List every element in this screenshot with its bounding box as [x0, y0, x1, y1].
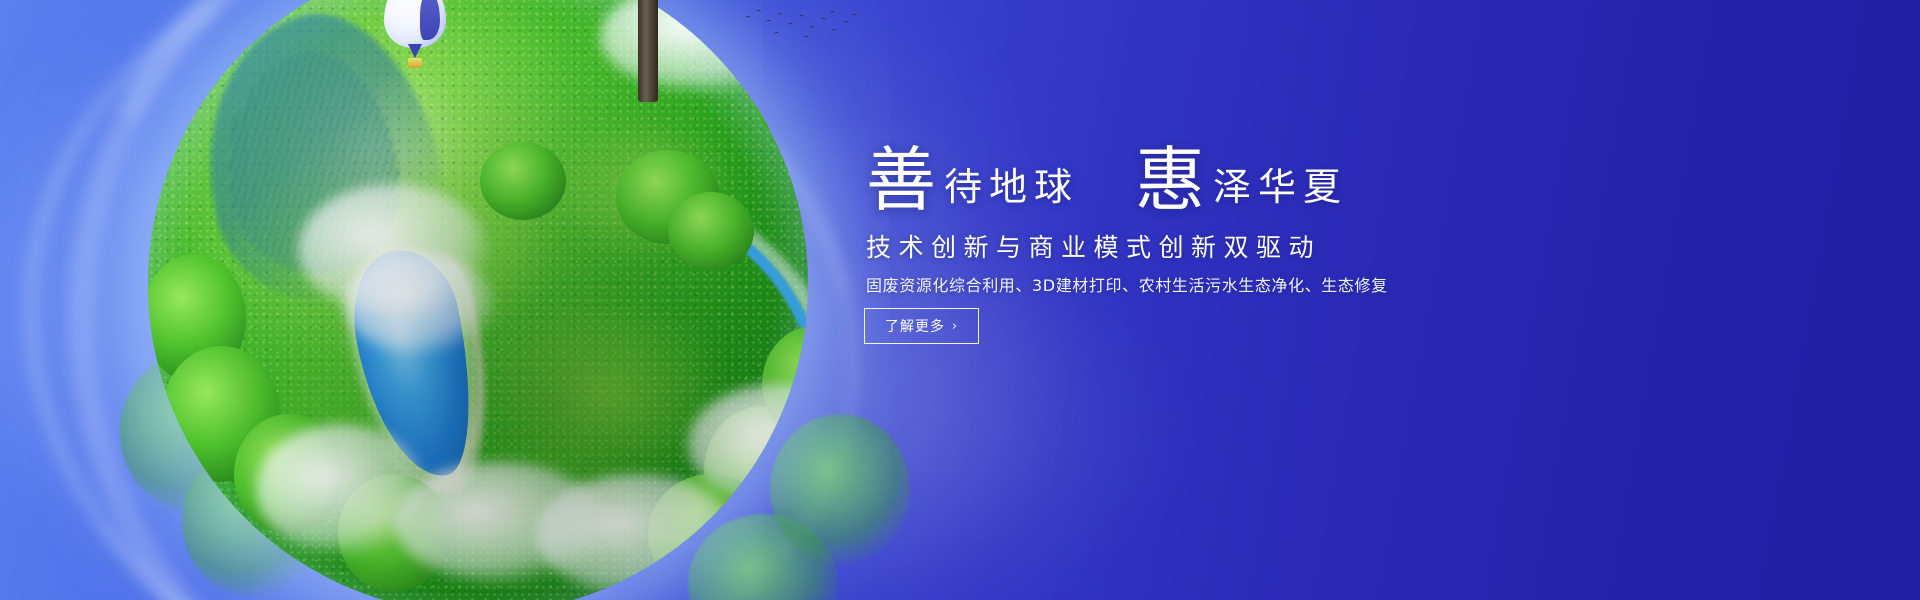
meadow-patch — [398, 434, 658, 594]
cloud — [256, 424, 426, 554]
tree-trunk — [638, 0, 658, 102]
lake-shore — [322, 225, 509, 509]
globe-artwork — [148, 0, 808, 600]
headline-chars-small: 泽华夏 — [1205, 168, 1348, 212]
meadow-patch — [548, 114, 738, 264]
birds-flock-icon — [744, 8, 864, 50]
tree — [234, 414, 344, 534]
cloud — [536, 474, 736, 594]
tree — [480, 142, 566, 220]
page-subtitle: 技术创新与商业模式创新双驱动 — [866, 228, 1321, 264]
hero-content: 善 待地球 惠 泽华夏 技术创新与商业模式创新双驱动 固废资源化综合利用、3D建… — [862, 0, 1862, 600]
meadow-patch — [478, 294, 728, 494]
meadow-patch — [238, 334, 438, 534]
headline-char-large: 惠 — [1135, 148, 1205, 212]
tree-icon — [540, 0, 770, 36]
grass-texture — [148, 0, 808, 600]
page-description: 固废资源化综合利用、3D建材打印、农村生活污水生态净化、生态修复 — [866, 272, 1388, 296]
meadow-patch — [328, 164, 558, 344]
headline-phrase-2: 惠 泽华夏 — [1135, 148, 1348, 212]
chevron-right-icon: › — [952, 320, 958, 333]
cloud — [394, 462, 604, 582]
hero-banner: 善 待地球 惠 泽华夏 技术创新与商业模式创新双驱动 固废资源化综合利用、3D建… — [0, 0, 1920, 600]
tree — [338, 474, 450, 592]
learn-more-label: 了解更多 — [885, 316, 945, 336]
tree — [148, 254, 246, 382]
cloud — [688, 384, 808, 504]
learn-more-button[interactable]: 了解更多 › — [864, 308, 979, 344]
cloud — [344, 254, 494, 354]
tree — [668, 192, 754, 270]
mountain-ridge — [205, 39, 417, 290]
tree — [162, 346, 280, 482]
balloon-tip — [408, 44, 422, 58]
cloud — [298, 184, 488, 314]
hot-air-balloon-icon — [384, 0, 446, 72]
green-planet — [148, 0, 808, 600]
headline-phrase-1: 善 待地球 — [866, 148, 1079, 212]
headline-char-large: 善 — [866, 148, 936, 212]
balloon-basket — [408, 58, 422, 68]
headline-chars-small: 待地球 — [936, 168, 1079, 212]
tree — [616, 150, 720, 244]
lake — [341, 241, 489, 487]
page-title: 善 待地球 惠 泽华夏 — [866, 148, 1348, 212]
